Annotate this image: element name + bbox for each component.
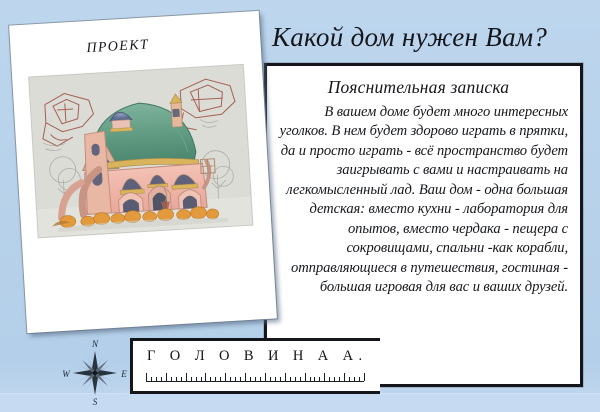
scale-ruler-tick: [215, 377, 216, 381]
project-card-label: ПРОЕКТ: [86, 37, 149, 57]
page-title: Какой дом нужен Вам?: [272, 22, 588, 53]
scale-ruler-tick: [265, 373, 266, 381]
scale-ruler-tick: [225, 373, 226, 381]
slide-canvas: Пояснительная записка В вашем доме будет…: [0, 0, 600, 412]
scale-ruler-tick: [290, 377, 291, 381]
scale-ruler-tick: [235, 377, 236, 381]
scale-ruler-tick: [186, 373, 187, 381]
scale-ruler-tick: [191, 377, 192, 381]
scale-ruler-tick: [364, 373, 365, 381]
scale-ruler-tick: [181, 377, 182, 381]
scale-ruler-tick: [156, 377, 157, 381]
scale-ruler-tick: [250, 377, 251, 381]
scale-ruler-tick: [171, 377, 172, 381]
scale-ruler-tick: [359, 377, 360, 381]
scale-ruler-tick: [305, 373, 306, 381]
compass-west-label: W: [62, 369, 71, 379]
author-name-bar: Г О Л О В И Н А А.: [130, 338, 380, 394]
scale-ruler-tick: [176, 377, 177, 381]
scale-ruler-tick: [260, 377, 261, 381]
scale-ruler: [146, 371, 364, 384]
scale-ruler-tick: [275, 377, 276, 381]
scale-ruler-tick: [230, 377, 231, 381]
compass-rose: N E S W: [58, 333, 132, 409]
scale-ruler-tick: [300, 377, 301, 381]
compass-north-label: N: [91, 339, 99, 349]
scale-ruler-tick: [349, 377, 350, 381]
scale-ruler-tick: [201, 377, 202, 381]
explanatory-note-heading: Пояснительная записка: [270, 77, 567, 98]
scale-ruler-tick: [220, 377, 221, 381]
scale-ruler-tick: [240, 377, 241, 381]
scale-ruler-tick: [339, 377, 340, 381]
scale-ruler-tick: [205, 373, 206, 381]
scale-ruler-tick: [161, 377, 162, 381]
scale-ruler-tick: [344, 373, 345, 381]
project-card: ПРОЕКТ: [9, 11, 277, 333]
explanatory-note-text: В вашем доме будет много интересных угол…: [279, 103, 568, 298]
compass-east-label: E: [120, 369, 127, 379]
scale-ruler-tick: [255, 377, 256, 381]
scale-ruler-tick: [334, 377, 335, 381]
scale-ruler-tick: [210, 377, 211, 381]
scale-ruler-tick: [146, 373, 147, 381]
scale-ruler-tick: [280, 377, 281, 381]
scale-ruler-tick: [151, 377, 152, 381]
scale-ruler-tick: [310, 377, 311, 381]
scale-ruler-tick: [329, 377, 330, 381]
scale-ruler-tick: [295, 377, 296, 381]
scale-ruler-tick: [324, 373, 325, 381]
scale-ruler-tick: [319, 377, 320, 381]
compass-south-label: S: [93, 397, 98, 407]
scale-ruler-tick: [245, 373, 246, 381]
scale-ruler-tick: [314, 377, 315, 381]
scale-ruler-tick: [196, 377, 197, 381]
scale-ruler-tick: [166, 373, 167, 381]
scale-ruler-tick: [285, 373, 286, 381]
scale-ruler-tick: [354, 377, 355, 381]
author-name: Г О Л О В И Н А А.: [147, 348, 368, 365]
house-drawing-image: [29, 65, 252, 237]
scale-ruler-tick: [270, 377, 271, 381]
explanatory-note-panel-inner: Пояснительная записка В вашем доме будет…: [270, 69, 577, 381]
